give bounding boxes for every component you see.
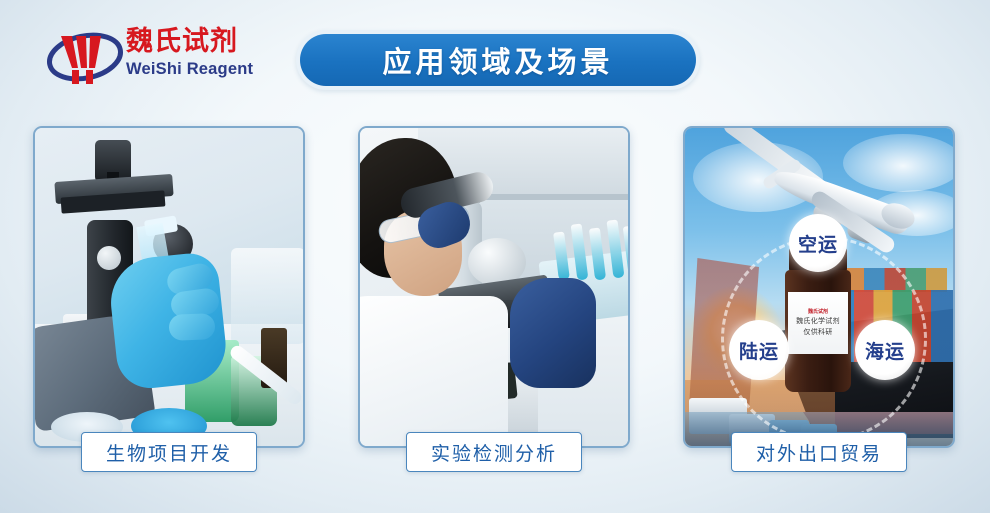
logistics-air-land-sea-photo: 魏氏试剂 魏氏化学试剂 仅供科研 空运 陆运 海运 bbox=[685, 128, 953, 446]
microscope-blue-flask-photo bbox=[35, 128, 303, 446]
card-export-trade[interactable]: 魏氏试剂 魏氏化学试剂 仅供科研 空运 陆运 海运 bbox=[683, 126, 955, 448]
card-caption-label: 对外出口贸易 bbox=[756, 439, 882, 466]
card-frame: 魏氏试剂 魏氏化学试剂 仅供科研 空运 陆运 海运 bbox=[683, 126, 955, 448]
slide-root: 魏氏试剂 WeiShi Reagent 应用领域及场景 bbox=[0, 0, 990, 513]
card-caption-label: 实验检测分析 bbox=[431, 439, 557, 466]
brand-logo-text: 魏氏试剂 WeiShi Reagent bbox=[126, 26, 268, 80]
card-caption: 对外出口贸易 bbox=[731, 432, 907, 472]
card-frame bbox=[358, 126, 630, 448]
badge-air-freight-label: 空运 bbox=[798, 230, 838, 257]
badge-sea-freight-label: 海运 bbox=[865, 337, 905, 364]
bottle-label-line2: 仅供科研 bbox=[803, 328, 832, 337]
brand-name-en: WeiShi Reagent bbox=[126, 58, 268, 80]
bottle-label-line1: 魏氏化学试剂 bbox=[796, 317, 840, 326]
section-title-banner: 应用领域及场景 bbox=[296, 30, 700, 90]
bottle-label: 魏氏试剂 魏氏化学试剂 仅供科研 bbox=[788, 292, 848, 354]
badge-land-freight-label: 陆运 bbox=[739, 337, 779, 364]
badge-sea-freight: 海运 bbox=[855, 320, 915, 380]
section-title-pill: 应用领域及场景 bbox=[300, 34, 696, 86]
card-caption: 生物项目开发 bbox=[81, 432, 257, 472]
weishi-w-mark-icon bbox=[46, 28, 124, 86]
scientist-microscope-photo bbox=[360, 128, 628, 446]
card-caption-label: 生物项目开发 bbox=[106, 439, 232, 466]
application-cards-row: 生物项目开发 bbox=[0, 126, 990, 456]
page-title: 应用领域及场景 bbox=[382, 39, 613, 81]
card-caption: 实验检测分析 bbox=[406, 432, 582, 472]
badge-air-freight: 空运 bbox=[789, 214, 847, 272]
brand-logo: 魏氏试剂 WeiShi Reagent bbox=[46, 24, 268, 90]
card-frame bbox=[33, 126, 305, 448]
card-lab-testing-analysis[interactable]: 实验检测分析 bbox=[358, 126, 630, 448]
bottle-label-logo: 魏氏试剂 bbox=[808, 309, 828, 315]
brand-name-cn: 魏氏试剂 bbox=[126, 26, 268, 57]
card-bio-project-development[interactable]: 生物项目开发 bbox=[33, 126, 305, 448]
badge-land-freight: 陆运 bbox=[729, 320, 789, 380]
